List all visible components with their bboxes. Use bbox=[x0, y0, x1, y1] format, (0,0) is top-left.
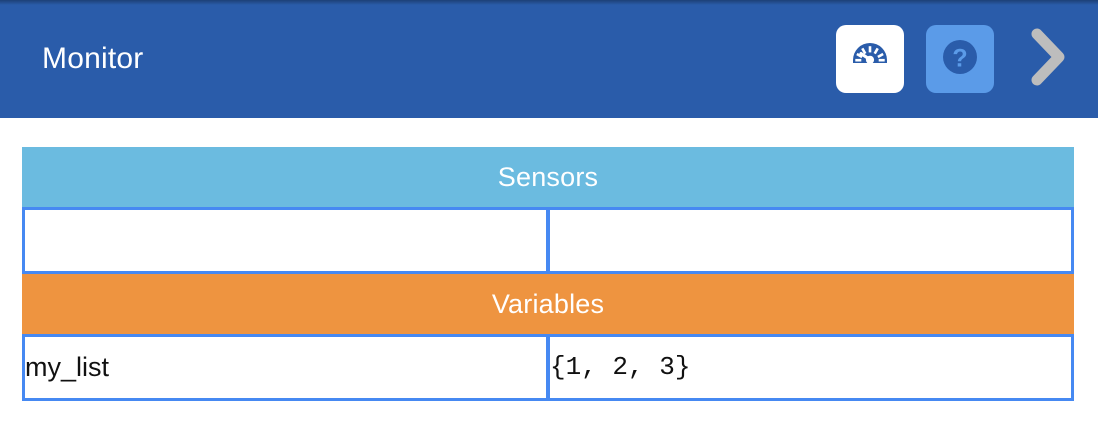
page-title: Monitor bbox=[42, 44, 143, 74]
section-header-row-variables: Variables bbox=[22, 274, 1074, 334]
variable-value-cell[interactable]: {1, 2, 3} bbox=[548, 334, 1074, 401]
chevron-right-icon bbox=[1026, 26, 1070, 93]
variable-name-value: my_list bbox=[25, 353, 546, 383]
monitor-panel: Sensors Variables my_list {1, 2, 3} bbox=[0, 118, 1098, 401]
monitor-gauge-icon bbox=[846, 33, 894, 86]
monitor-gauge-button[interactable] bbox=[836, 25, 904, 93]
section-header-row-sensors: Sensors bbox=[22, 147, 1074, 207]
section-title-sensors: Sensors bbox=[22, 147, 1074, 207]
variable-value-text: {1, 2, 3} bbox=[550, 353, 1071, 382]
svg-text:?: ? bbox=[952, 44, 967, 72]
table-row[interactable]: my_list {1, 2, 3} bbox=[22, 334, 1074, 401]
app-bar: Monitor bbox=[0, 0, 1098, 118]
sensor-value-text bbox=[550, 240, 1071, 241]
variable-name-cell[interactable]: my_list bbox=[22, 334, 548, 401]
sensor-name-value bbox=[25, 240, 546, 241]
next-button[interactable] bbox=[1016, 22, 1080, 96]
app-bar-top-shadow bbox=[0, 0, 1098, 5]
table-row[interactable] bbox=[22, 207, 1074, 274]
sensor-value-cell[interactable] bbox=[548, 207, 1074, 274]
help-button[interactable]: ? bbox=[926, 25, 994, 93]
help-icon: ? bbox=[937, 34, 983, 85]
sensor-name-cell[interactable] bbox=[22, 207, 548, 274]
monitor-table: Sensors Variables my_list {1, 2, 3} bbox=[22, 147, 1074, 401]
app-bar-actions: ? bbox=[836, 22, 1080, 96]
section-title-variables: Variables bbox=[22, 274, 1074, 334]
